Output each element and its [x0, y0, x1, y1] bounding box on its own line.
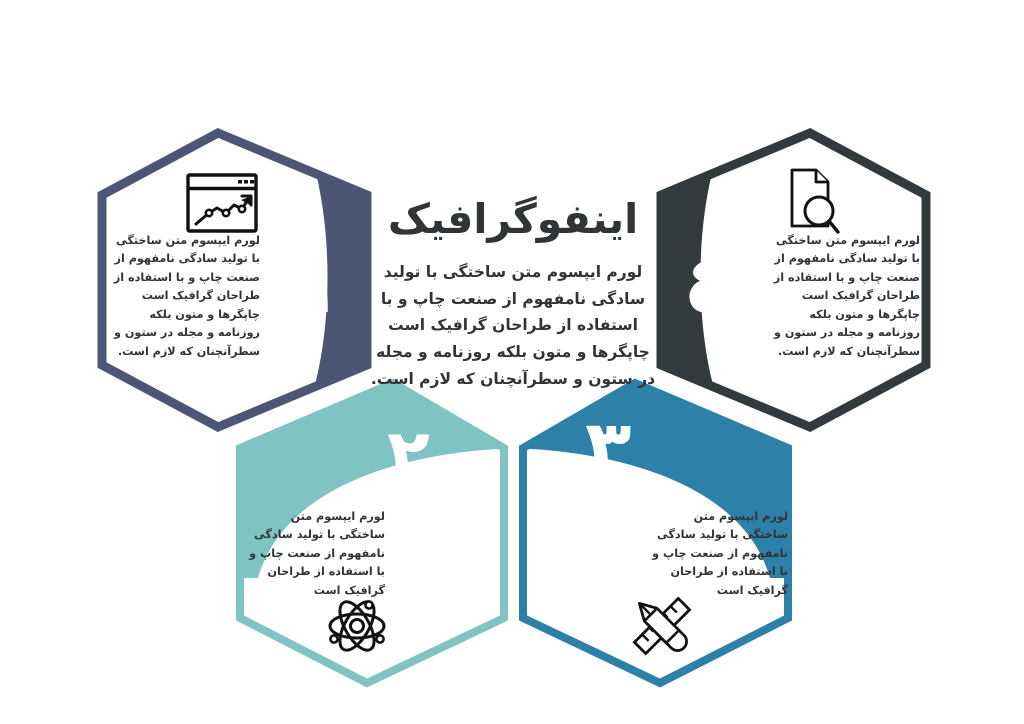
center-title-block: اینفوگرافیک لورم ایپسوم متن ساختگی با تو… — [368, 196, 658, 392]
hexagon-3-number: ٣ — [585, 410, 631, 486]
hexagon-1-description: لورم ایپسوم متن ساختگی با تولید سادگی نا… — [110, 232, 260, 361]
center-description: لورم ایپسوم متن ساختگی با تولید سادگی نا… — [368, 259, 658, 392]
hexagon-4-description: لورم ایپسوم متن ساختگی با تولید سادگی نا… — [770, 232, 920, 361]
infographic-canvas: اینفوگرافیک لورم ایپسوم متن ساختگی با تو… — [0, 0, 1024, 724]
hexagon-4-number: ٤ — [683, 240, 736, 326]
hexagon-1-number: ١ — [295, 248, 341, 324]
document-search-icon — [775, 166, 841, 242]
hexagon-2-number: ٢ — [387, 420, 430, 490]
hexagon-2-description: لورم ایپسوم متن ساختگی با تولید سادگی نا… — [245, 508, 385, 600]
hexagon-3-description: لورم ایپسوم متن ساختگی با تولید سادگی نا… — [648, 508, 788, 600]
pencil-ruler-icon — [630, 593, 694, 663]
page-title: اینفوگرافیک — [368, 196, 658, 243]
atom-icon — [325, 595, 389, 661]
line-chart-window-icon — [185, 172, 259, 238]
